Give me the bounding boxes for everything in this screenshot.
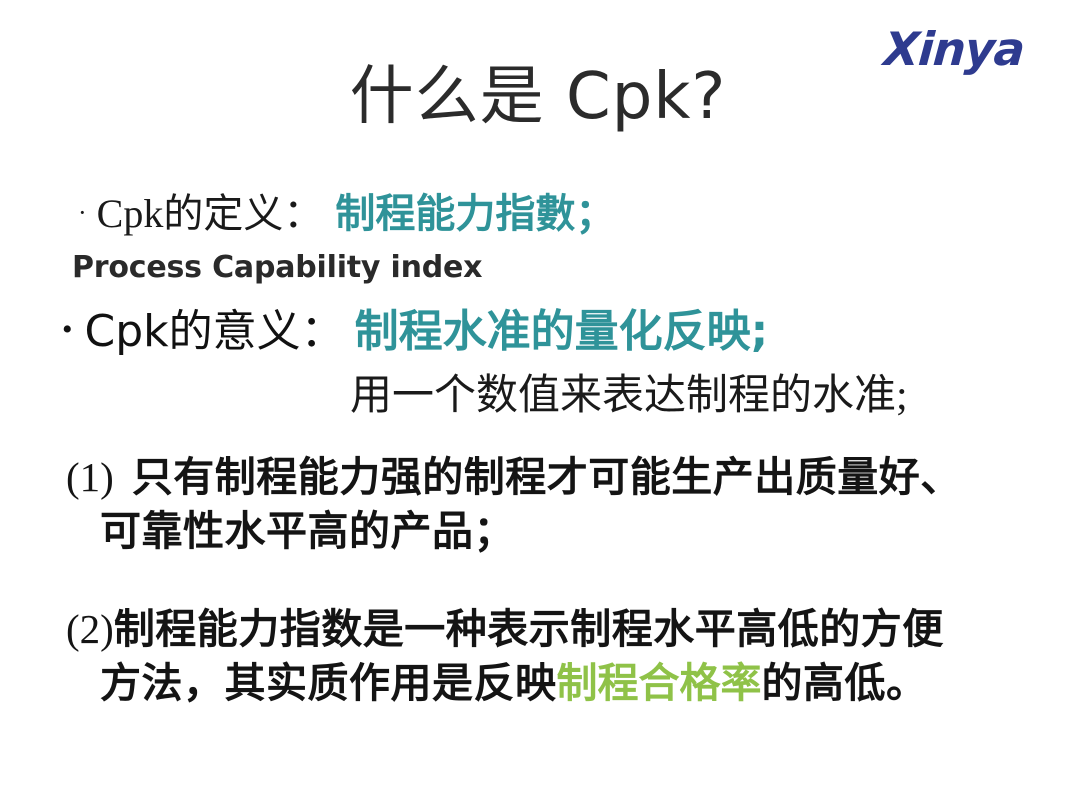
numbered-item-2-line1: 制程能力指数是一种表示制程水平高低的方便: [114, 606, 944, 652]
page-title-en: Cpk?: [545, 60, 727, 134]
numbered-item-1-line1: 只有制程能力强的制程才可能生产出质量好、: [132, 454, 962, 500]
bullet-item-definition: ·Cpk的定义：制程能力指數；: [0, 190, 1076, 238]
numbered-item-2-line2-pre: 方法，其实质作用是反映: [100, 660, 557, 706]
numbered-item-1-number: (1): [66, 454, 114, 500]
slide-body: ·Cpk的定义：制程能力指數； Process Capability index…: [0, 190, 1076, 711]
bullet-meaning-highlight: 制程水准的量化反映;: [355, 306, 769, 357]
bullet-item-meaning: •Cpk的意义：制程水准的量化反映;: [0, 307, 1076, 358]
continuation-line: 用一个数值来表达制程的水准;: [0, 372, 1076, 420]
numbered-item-2: (2)制程能力指数是一种表示制程水平高低的方便 方法，其实质作用是反映制程合格率…: [0, 602, 1076, 710]
subtitle-english: Process Capability index: [0, 250, 1076, 285]
numbered-item-2-line2-post: 的高低。: [762, 660, 928, 706]
numbered-item-2-highlight: 制程合格率: [557, 660, 762, 706]
bullet-meaning-term-cn: 的意义：: [169, 307, 345, 356]
numbered-item-2-line2: 方法，其实质作用是反映制程合格率的高低。: [66, 656, 1076, 710]
bullet-definition-highlight: 制程能力指數；: [335, 191, 615, 237]
bullet-marker-icon: •: [62, 313, 73, 346]
bullet-definition-term-cn: 的定义：: [163, 191, 323, 236]
numbered-item-2-number: (2): [66, 606, 114, 652]
bullet-definition-term-en: Cpk: [97, 191, 164, 236]
numbered-item-1-line2: 可靠性水平高的产品；: [66, 504, 1076, 558]
bullet-meaning-term-en: Cpk: [85, 306, 169, 357]
page-title-cn: 什么是: [350, 61, 545, 132]
page-title: 什么是 Cpk?: [0, 62, 1076, 132]
bullet-marker-icon: ·: [78, 198, 87, 227]
numbered-item-1: (1)只有制程能力强的制程才可能生产出质量好、 可靠性水平高的产品；: [0, 450, 1076, 558]
